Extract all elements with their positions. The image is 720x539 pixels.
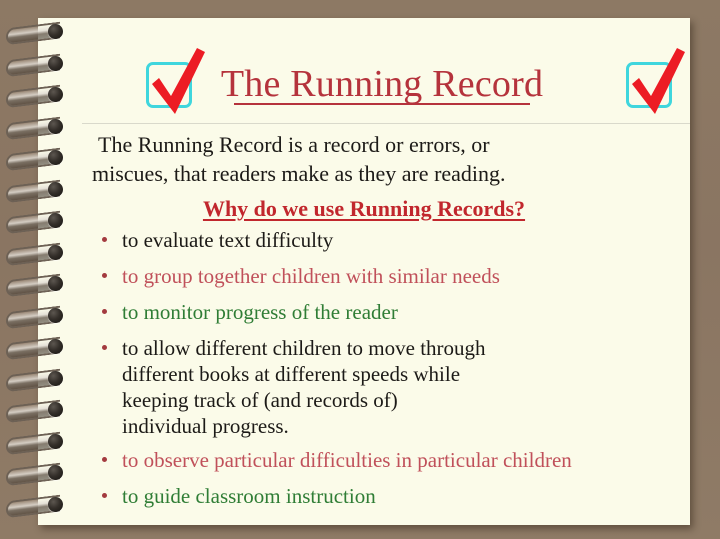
list-item: to group together children with similar … <box>100 263 670 289</box>
header-divider <box>82 123 690 124</box>
slide-canvas: The Running Record The Running Record is… <box>0 0 720 539</box>
list-item: to monitor progress of the reader <box>100 299 670 325</box>
checkmark-icon-right <box>622 48 690 116</box>
list-item: to guide classroom instruction <box>100 483 670 509</box>
list-item: to allow different children to move thro… <box>100 335 670 439</box>
slide-body: The Running Record is a record or errors… <box>38 130 690 519</box>
bullet-marker <box>102 457 107 462</box>
list-item: to observe particular difficulties in pa… <box>100 447 670 473</box>
bullet-marker <box>102 237 107 242</box>
title-underline <box>234 103 530 105</box>
intro-line-2: miscues, that readers make as they are r… <box>92 159 654 188</box>
list-item-text: to monitor progress of the reader <box>122 300 398 324</box>
list-item-text: to observe particular difficulties in pa… <box>122 448 572 472</box>
bullet-marker <box>102 273 107 278</box>
checkmark-glyph-right <box>622 48 690 122</box>
page-title-text: The Running Record <box>221 63 543 105</box>
slide-header: The Running Record <box>82 34 682 124</box>
list-item-text: to group together children with similar … <box>122 264 500 288</box>
bullet-marker <box>102 345 107 350</box>
page-title: The Running Record <box>82 62 682 106</box>
bullet-marker <box>102 309 107 314</box>
notepad-page: The Running Record The Running Record is… <box>38 18 690 525</box>
intro-paragraph: The Running Record is a record or errors… <box>38 130 690 188</box>
list-item-text: to evaluate text difficulty <box>122 228 333 252</box>
list-item-text: to allow different children to move thro… <box>122 335 670 361</box>
bullet-marker <box>102 493 107 498</box>
reasons-list: to evaluate text difficulty to group tog… <box>38 227 690 509</box>
list-item: to evaluate text difficulty <box>100 227 670 253</box>
section-heading: Why do we use Running Records? <box>38 195 690 223</box>
intro-line-1: The Running Record is a record or errors… <box>98 132 490 157</box>
list-item-text: individual progress. <box>122 413 670 439</box>
list-item-text: to guide classroom instruction <box>122 484 376 508</box>
list-item-text: keeping track of (and records of) <box>122 387 670 413</box>
list-item-text: different books at different speeds whil… <box>122 361 670 387</box>
